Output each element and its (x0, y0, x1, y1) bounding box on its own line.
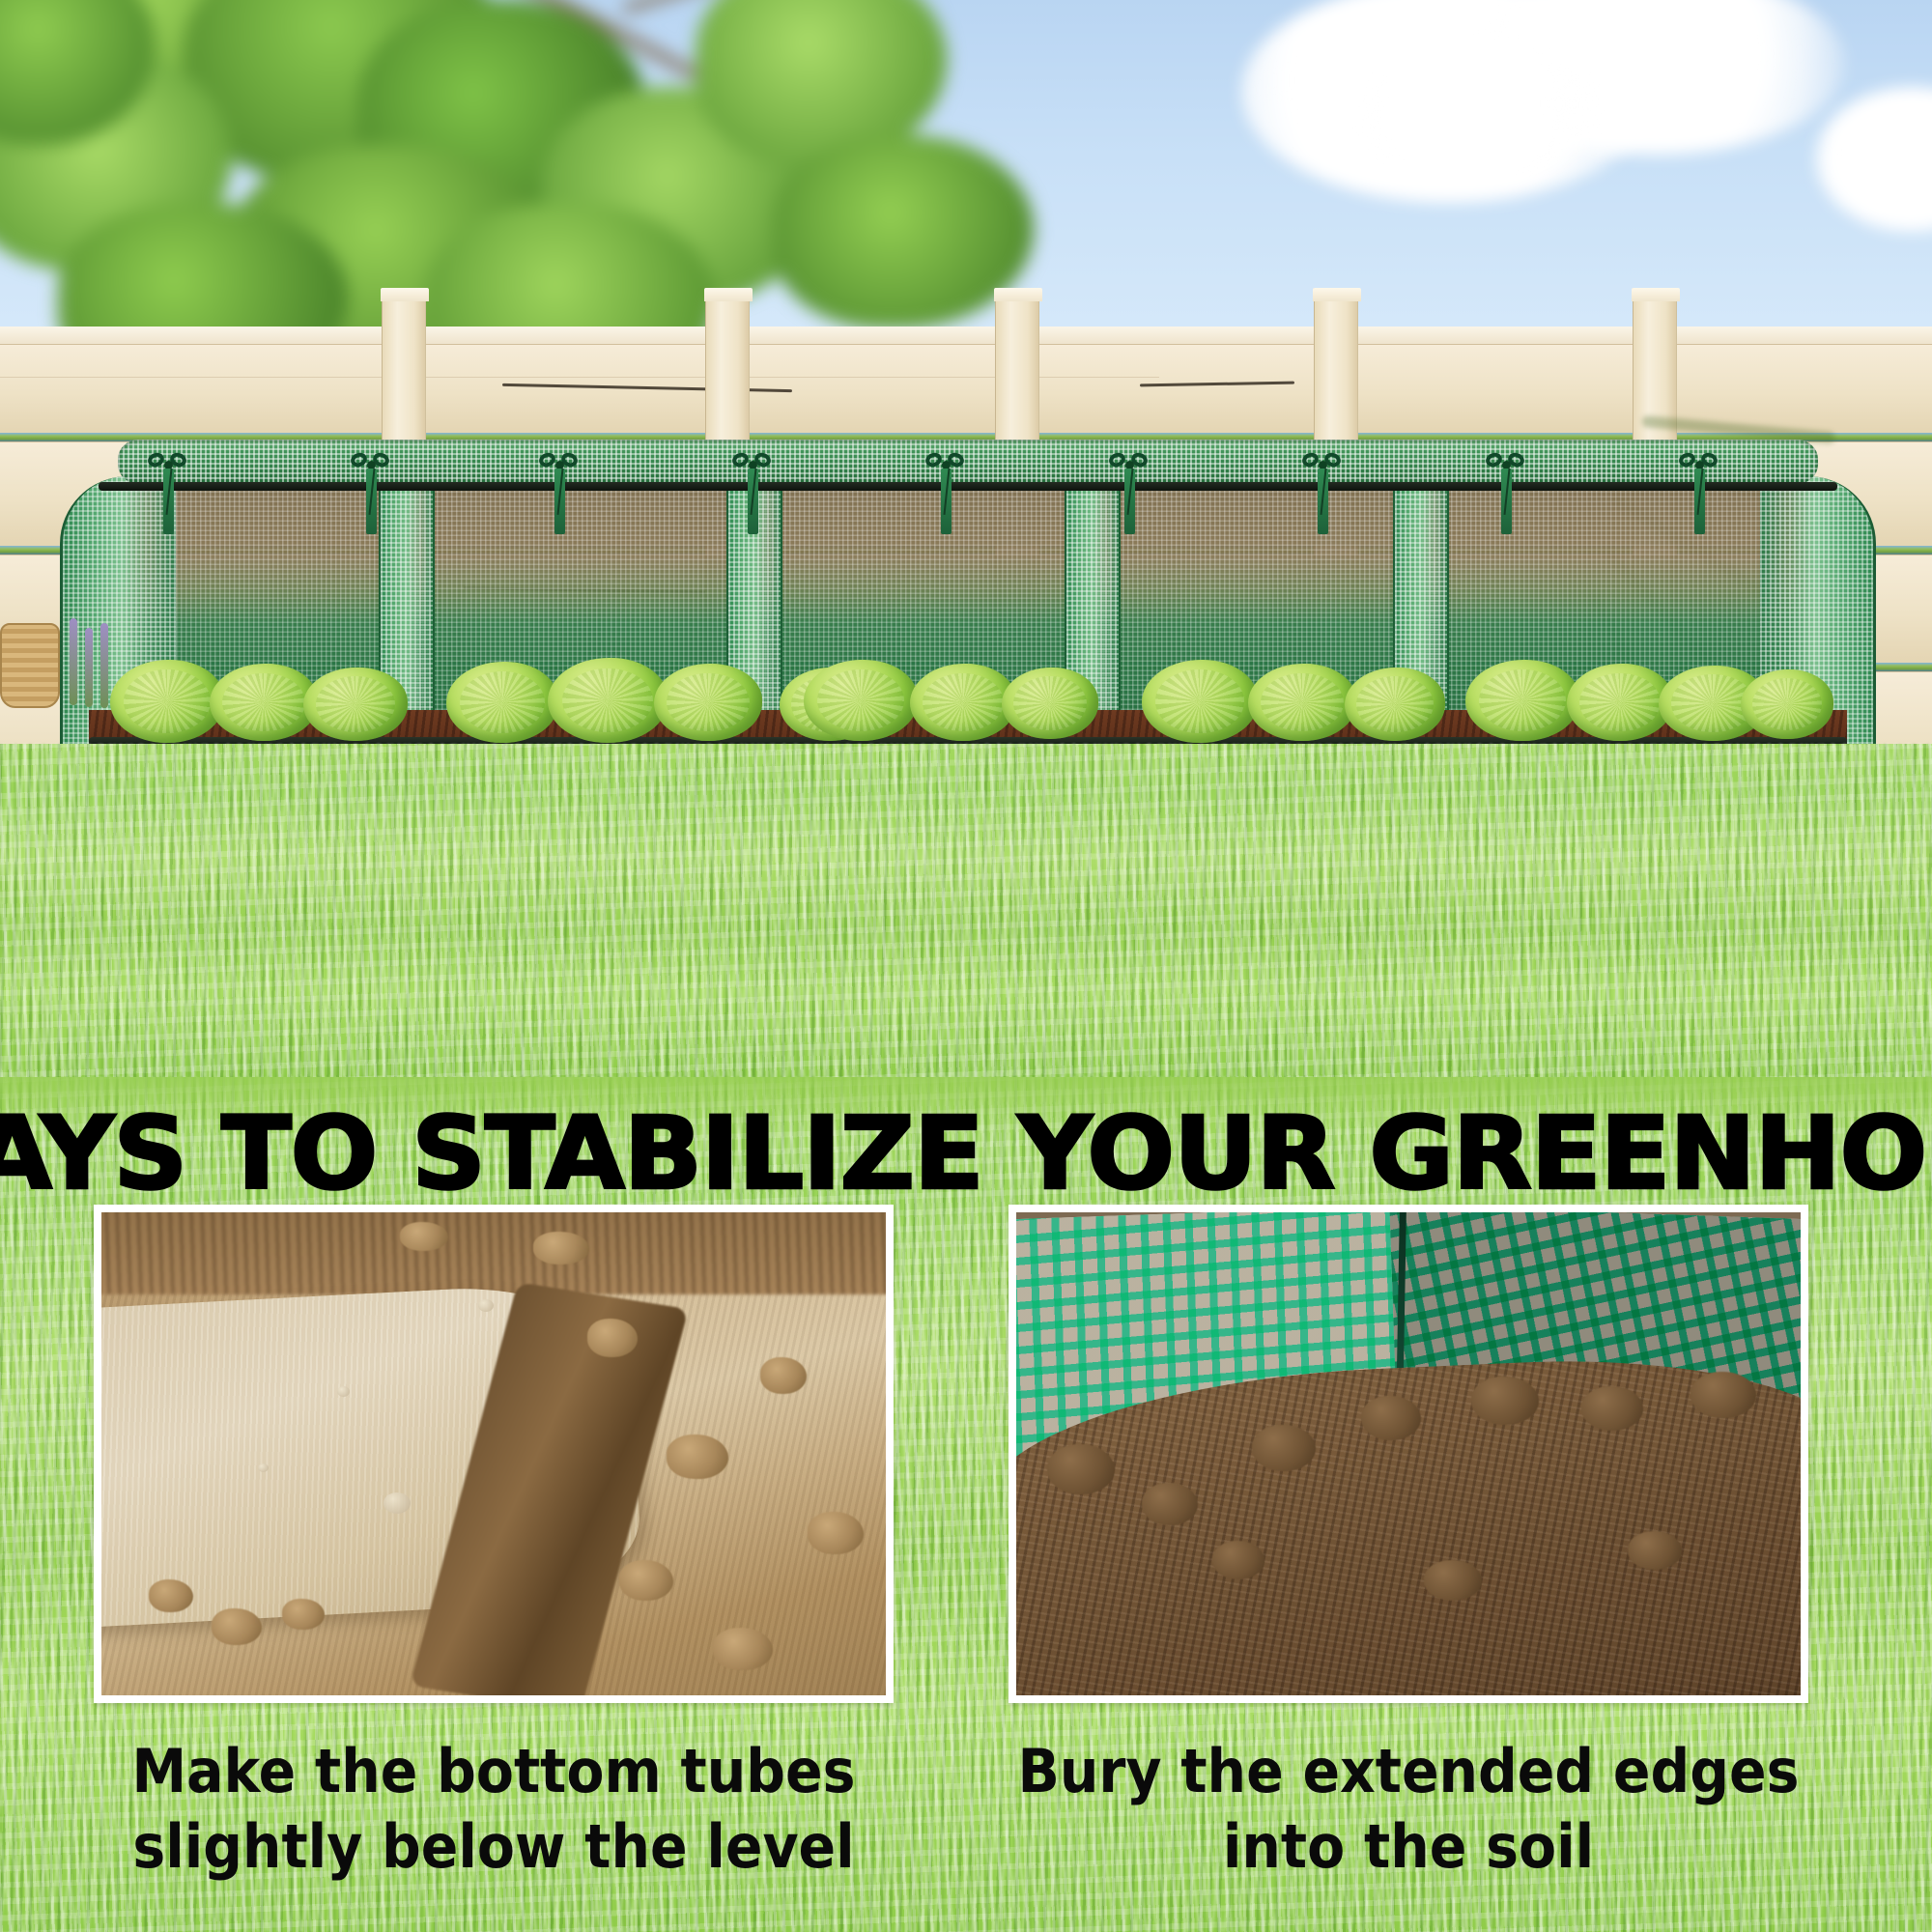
tie-strap[interactable] (543, 445, 576, 542)
lettuce-plant (548, 658, 668, 743)
lettuce-plant (1741, 669, 1833, 739)
lavender-plant (85, 628, 93, 707)
lavender-plant (100, 623, 108, 708)
instruction-card-buried-edge (1009, 1205, 1808, 1703)
caption-buried-edge: Bury the extended edges into the soil (1001, 1734, 1817, 1885)
lettuce-plant (804, 660, 918, 741)
caption-line-2: slightly below the level (86, 1809, 902, 1885)
caption-trench: Make the bottom tubes slightly below the… (86, 1734, 902, 1885)
tie-strap[interactable] (1306, 445, 1339, 542)
lettuce-plant (1345, 668, 1445, 741)
lettuce-plant (1567, 664, 1673, 741)
lettuce-plant (1248, 664, 1356, 741)
tie-strap[interactable] (152, 445, 185, 542)
tie-strap[interactable] (736, 445, 769, 542)
lavender-plant (70, 618, 77, 705)
lettuce-plant (110, 660, 224, 743)
tie-strap[interactable] (1490, 445, 1522, 542)
wicker-basket (0, 623, 60, 708)
lawn-grass-hero (0, 744, 1932, 1077)
cloud (1357, 39, 1599, 184)
lettuce-plant (910, 664, 1016, 741)
lettuce-plant (654, 664, 762, 741)
tie-strap[interactable] (1683, 445, 1716, 542)
infographic-page: WAYS TO STABILIZE YOUR GREENHOUSE (0, 0, 1932, 1932)
caption-line-1: Bury the extended edges (1018, 1736, 1800, 1806)
caption-line-2: into the soil (1001, 1809, 1817, 1885)
lettuce-plant (1465, 660, 1579, 741)
lettuce-plant (1142, 660, 1258, 743)
lettuce-plant (303, 668, 408, 741)
mesh-edge-buried-in-soil-photo (1016, 1212, 1801, 1695)
tie-strap[interactable] (355, 445, 387, 542)
instruction-card-trench (94, 1205, 894, 1703)
lettuce-plant (1002, 668, 1098, 739)
tunnel-greenhouse (60, 440, 1876, 758)
hero-product-photo (0, 0, 1932, 1077)
page-title: WAYS TO STABILIZE YOUR GREENHOUSE (0, 1103, 1932, 1204)
trench-dug-in-soil-photo (101, 1212, 886, 1695)
tie-strap[interactable] (929, 445, 962, 542)
tie-strap[interactable] (1113, 445, 1146, 542)
lettuce-plant (446, 662, 558, 743)
lettuce-plant (210, 664, 318, 741)
caption-line-1: Make the bottom tubes (132, 1736, 856, 1806)
